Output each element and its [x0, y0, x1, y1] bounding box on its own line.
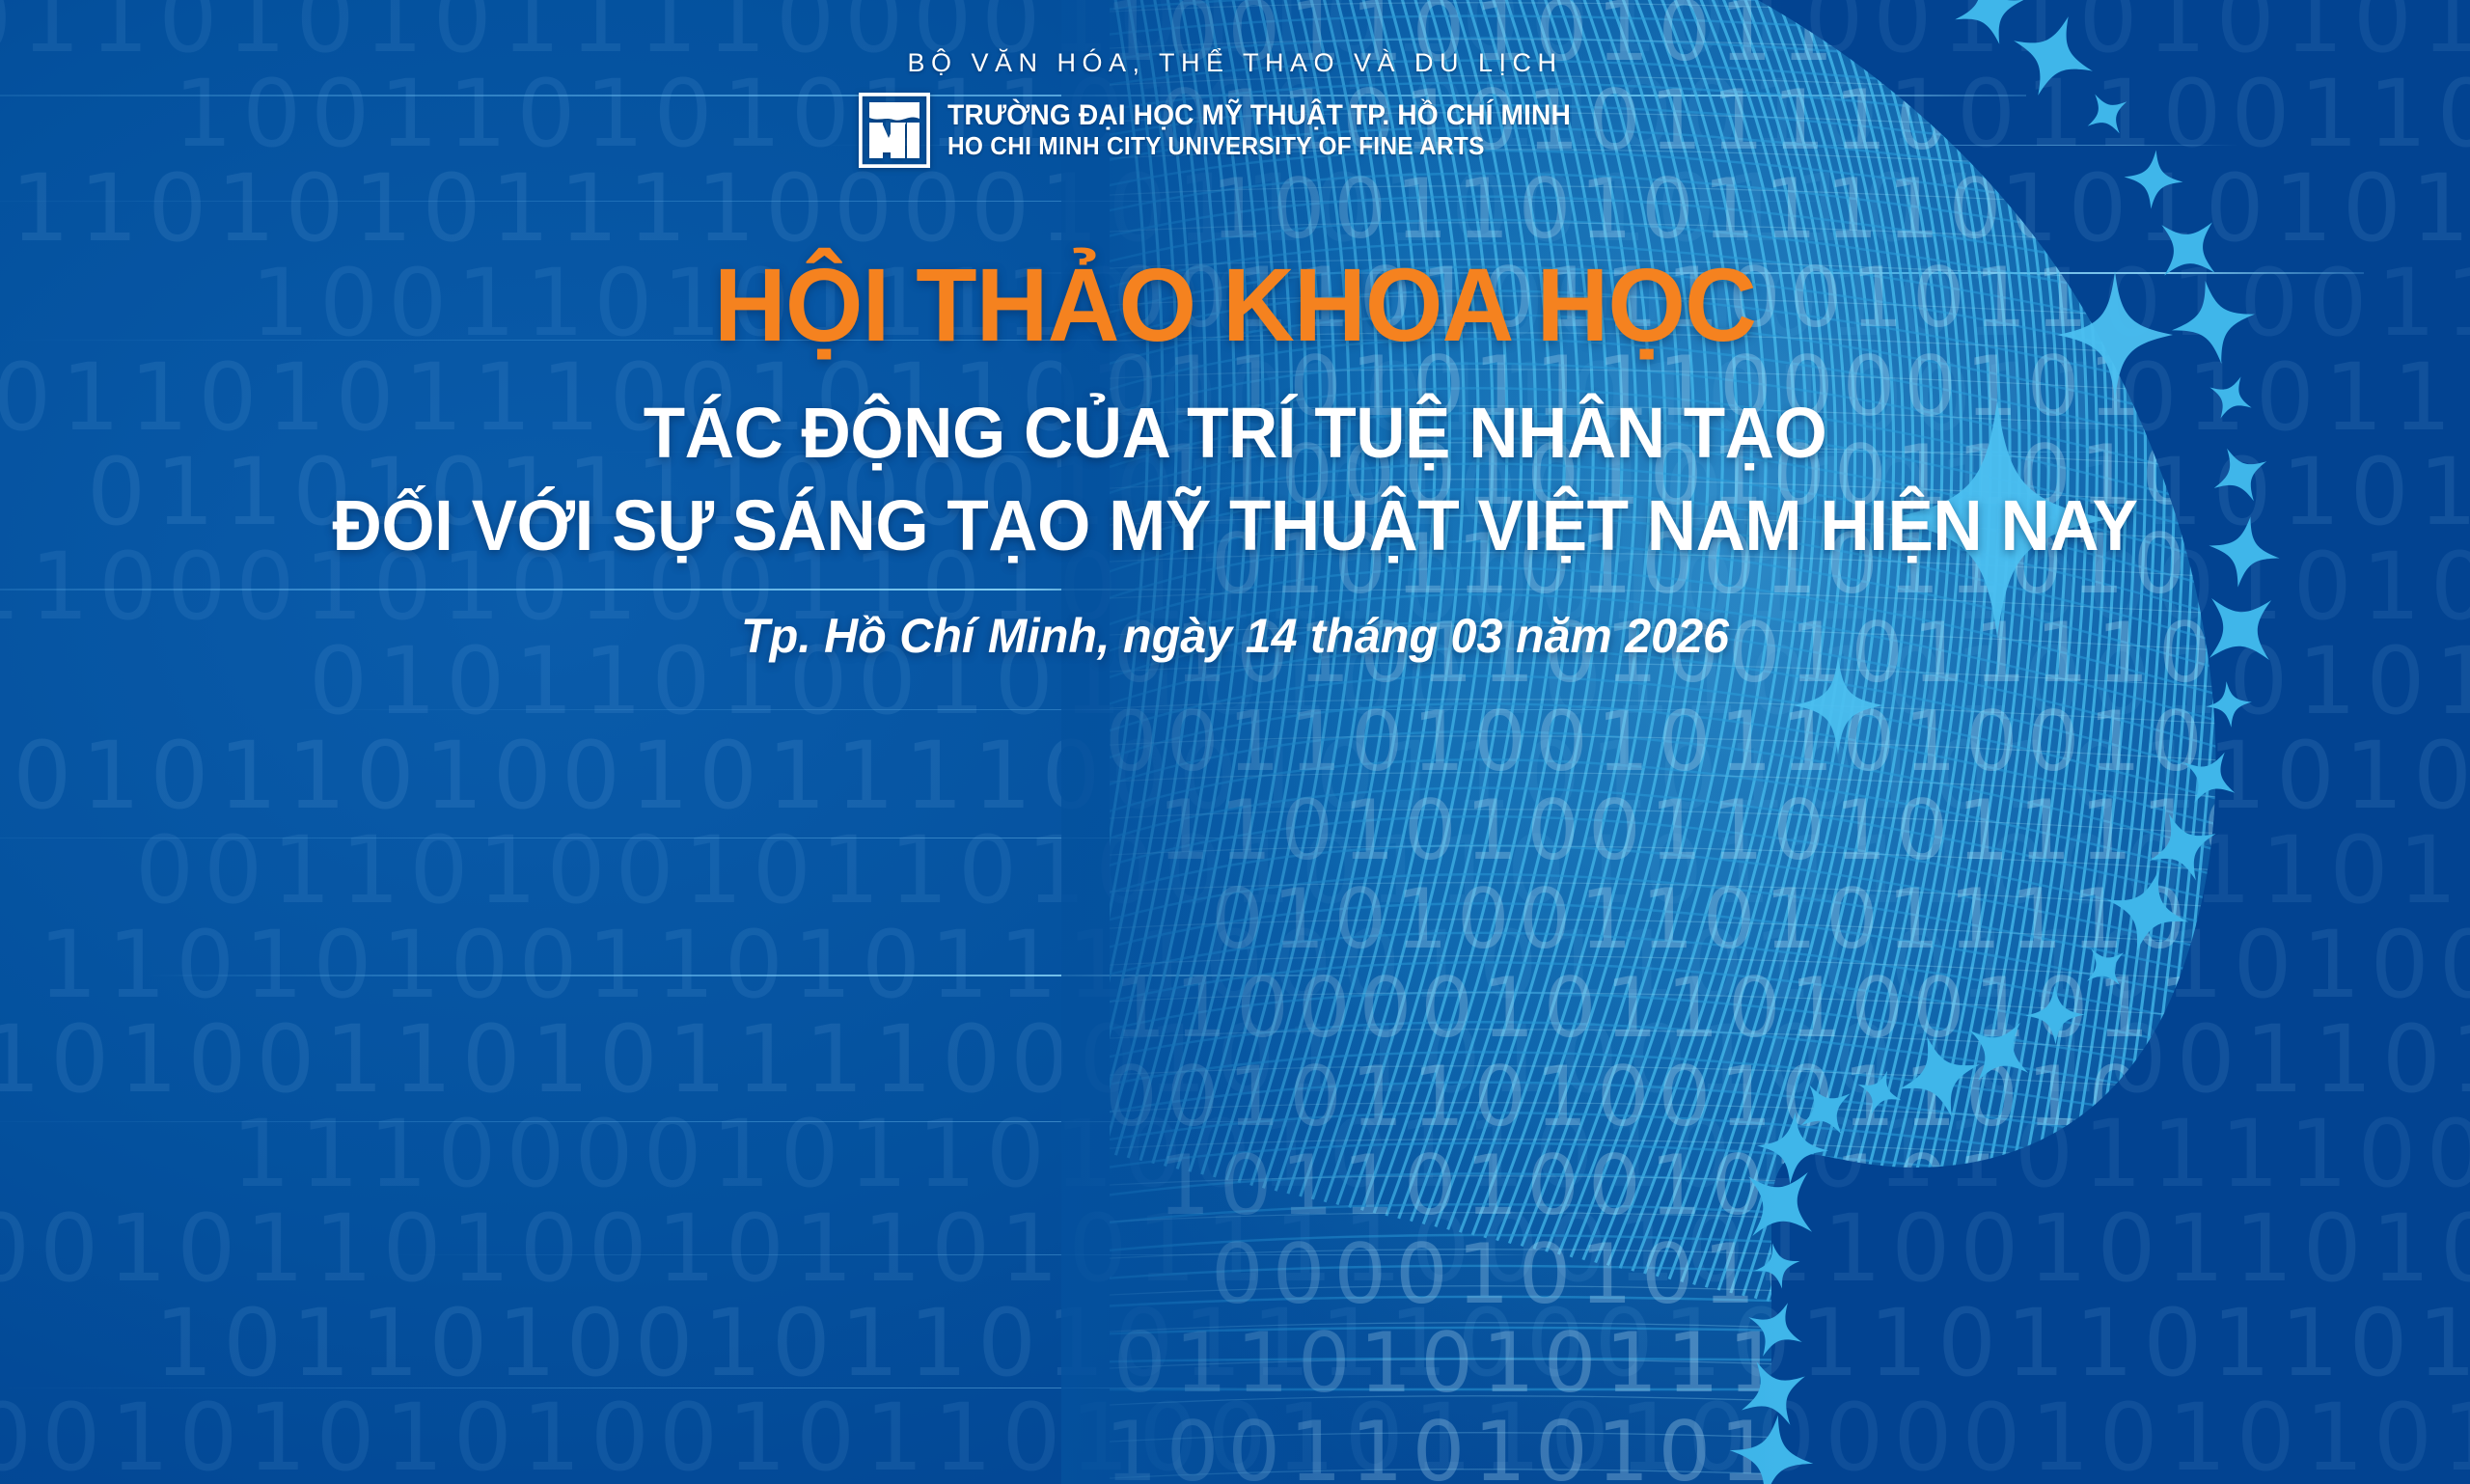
- binary-row: 1101010011010111100010110100110101001101…: [39, 919, 2470, 1011]
- poster-titles: HỘI THẢO KHOA HỌC TÁC ĐỘNG CỦA TRÍ TUỆ N…: [0, 253, 2470, 660]
- binary-row: 1011010010110101111000101101101101001011…: [154, 1297, 2470, 1389]
- university-name-en: HO CHI MINH CITY UNIVERSITY OF FINE ARTS: [947, 131, 1571, 161]
- topic-line-1: TÁC ĐỘNG CỦA TRÍ TUỆ NHÂN TẠO: [49, 398, 2421, 469]
- date-and-place: Tp. Hồ Chí Minh, ngày 14 tháng 03 năm 20…: [37, 612, 2432, 660]
- university-name-vi: TRƯỜNG ĐẠI HỌC MỸ THUẬT TP. HỒ CHÍ MINH: [947, 99, 1571, 132]
- scanline: [386, 1254, 1544, 1255]
- scanline: [0, 1388, 1254, 1388]
- topic-line-2: ĐỐI VỚI SỰ SÁNG TẠO MỸ THUẬT VIỆT NAM HI…: [49, 490, 2421, 562]
- organization-names: TRƯỜNG ĐẠI HỌC MỸ THUẬT TP. HỒ CHÍ MINH …: [947, 99, 1610, 161]
- poster-header: BỘ VĂN HÓA, THỂ THAO VÀ DU LỊCH TRƯỜNG Đ…: [0, 50, 2470, 168]
- scanline: [0, 201, 1833, 202]
- scanline: [0, 838, 1447, 838]
- binary-row: 0101001101011110001011010010010100110101…: [0, 1013, 2470, 1106]
- scanline: [0, 1121, 1303, 1122]
- poster-canvas: 0011010101111000010110100101001101010111…: [0, 0, 2470, 1484]
- binary-row: 1010101101001011110001011010101010110100…: [0, 729, 2470, 822]
- university-logo-icon: [859, 93, 930, 168]
- scanline: [145, 975, 1351, 976]
- ministry-line: BỘ VĂN HÓA, THỂ THAO VÀ DU LỊCH: [907, 50, 1562, 76]
- binary-row: 0010110100101101011110001011001011010010…: [0, 1202, 2470, 1295]
- binary-row: 0000101010100101101001011010000010101010…: [0, 1391, 2470, 1484]
- organization-row: TRƯỜNG ĐẠI HỌC MỸ THUẬT TP. HỒ CHÍ MINH …: [859, 93, 1610, 168]
- scanline: [289, 709, 1737, 710]
- event-type-title: HỘI THẢO KHOA HỌC: [49, 253, 2421, 357]
- binary-row: 0110101011110000101101001011011010101111…: [0, 162, 2470, 255]
- binary-digit-field: 0011010101111000010110100101001101010111…: [0, 0, 2470, 1484]
